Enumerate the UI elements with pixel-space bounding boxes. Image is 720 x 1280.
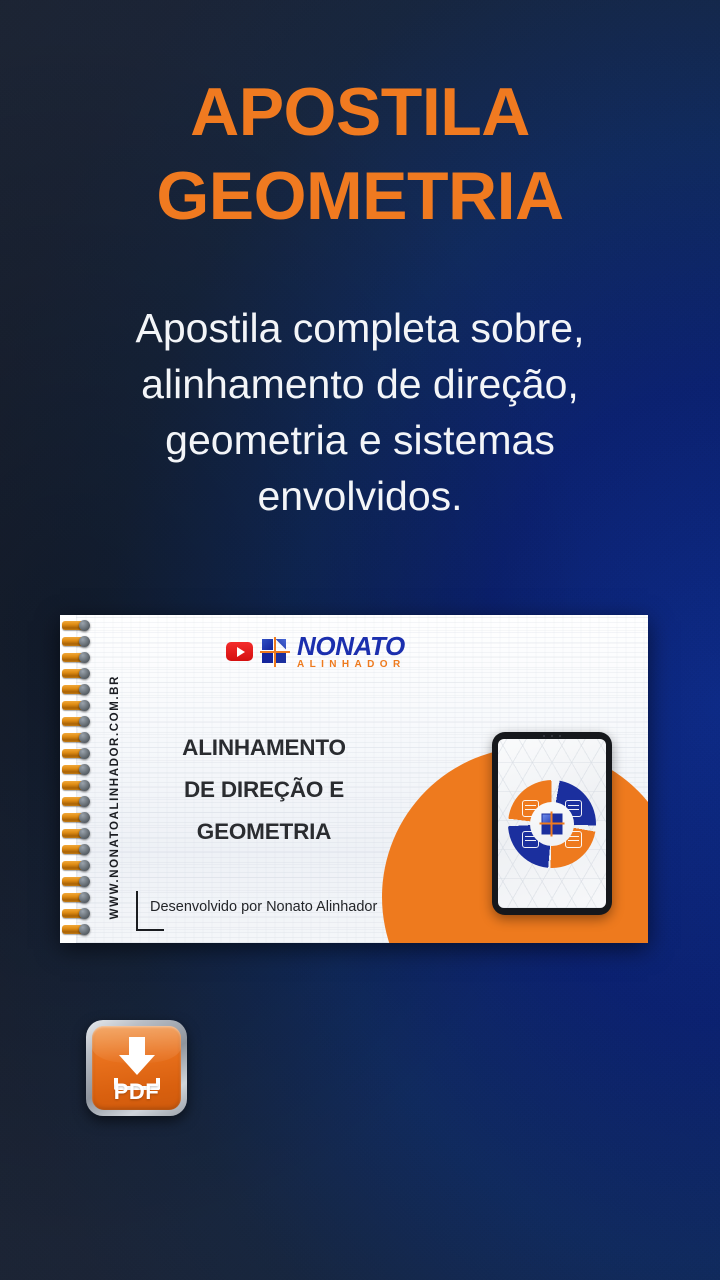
- cover-website-url: WWW.NONATOALINHADOR.COM.BR: [109, 675, 121, 919]
- cover-paper-surface: WWW.NONATOALINHADOR.COM.BR NONATO ALINHA…: [76, 615, 648, 943]
- page-subtitle-line-3: geometria e sistemas: [60, 412, 660, 468]
- cycle-diagram: [508, 780, 596, 868]
- page-title-line-2: GEOMETRIA: [0, 154, 720, 238]
- nonato-logo-mark-small: [542, 813, 563, 834]
- cover-corner-bracket: [136, 891, 164, 931]
- pdf-button-label: PDF: [92, 1079, 181, 1105]
- pdf-download-button[interactable]: PDF: [86, 1020, 187, 1116]
- cover-title: ALINHAMENTO DE DIREÇÃO E GEOMETRIA: [134, 727, 394, 853]
- cover-title-line-3: GEOMETRIA: [134, 811, 394, 853]
- nonato-logo-mark: [262, 639, 288, 665]
- brand-logo: NONATO ALINHADOR: [226, 633, 406, 670]
- tablet-camera-icon: [543, 734, 561, 737]
- tablet-screen: [498, 739, 606, 908]
- page-subtitle-line-4: envolvidos.: [60, 468, 660, 524]
- ebook-cover-image[interactable]: WWW.NONATOALINHADOR.COM.BR NONATO ALINHA…: [60, 615, 648, 943]
- page-title-line-1: APOSTILA: [0, 70, 720, 154]
- brand-name: NONATO: [297, 633, 406, 659]
- brand-tagline: ALINHADOR: [297, 660, 406, 670]
- pdf-button-face: PDF: [92, 1026, 181, 1110]
- cover-title-line-1: ALINHAMENTO: [134, 727, 394, 769]
- download-arrow-icon: [117, 1037, 157, 1075]
- youtube-icon: [226, 642, 253, 661]
- page-title: APOSTILA GEOMETRIA: [0, 70, 720, 238]
- brand-logo-text: NONATO ALINHADOR: [297, 633, 406, 670]
- spiral-binding: [60, 615, 90, 943]
- page-subtitle: Apostila completa sobre, alinhamento de …: [60, 300, 660, 524]
- page-subtitle-line-1: Apostila completa sobre,: [60, 300, 660, 356]
- tablet-mockup: [492, 732, 612, 915]
- cover-author-credit: Desenvolvido por Nonato Alinhador: [150, 899, 377, 915]
- cover-title-line-2: DE DIREÇÃO E: [134, 769, 394, 811]
- page-subtitle-line-2: alinhamento de direção,: [60, 356, 660, 412]
